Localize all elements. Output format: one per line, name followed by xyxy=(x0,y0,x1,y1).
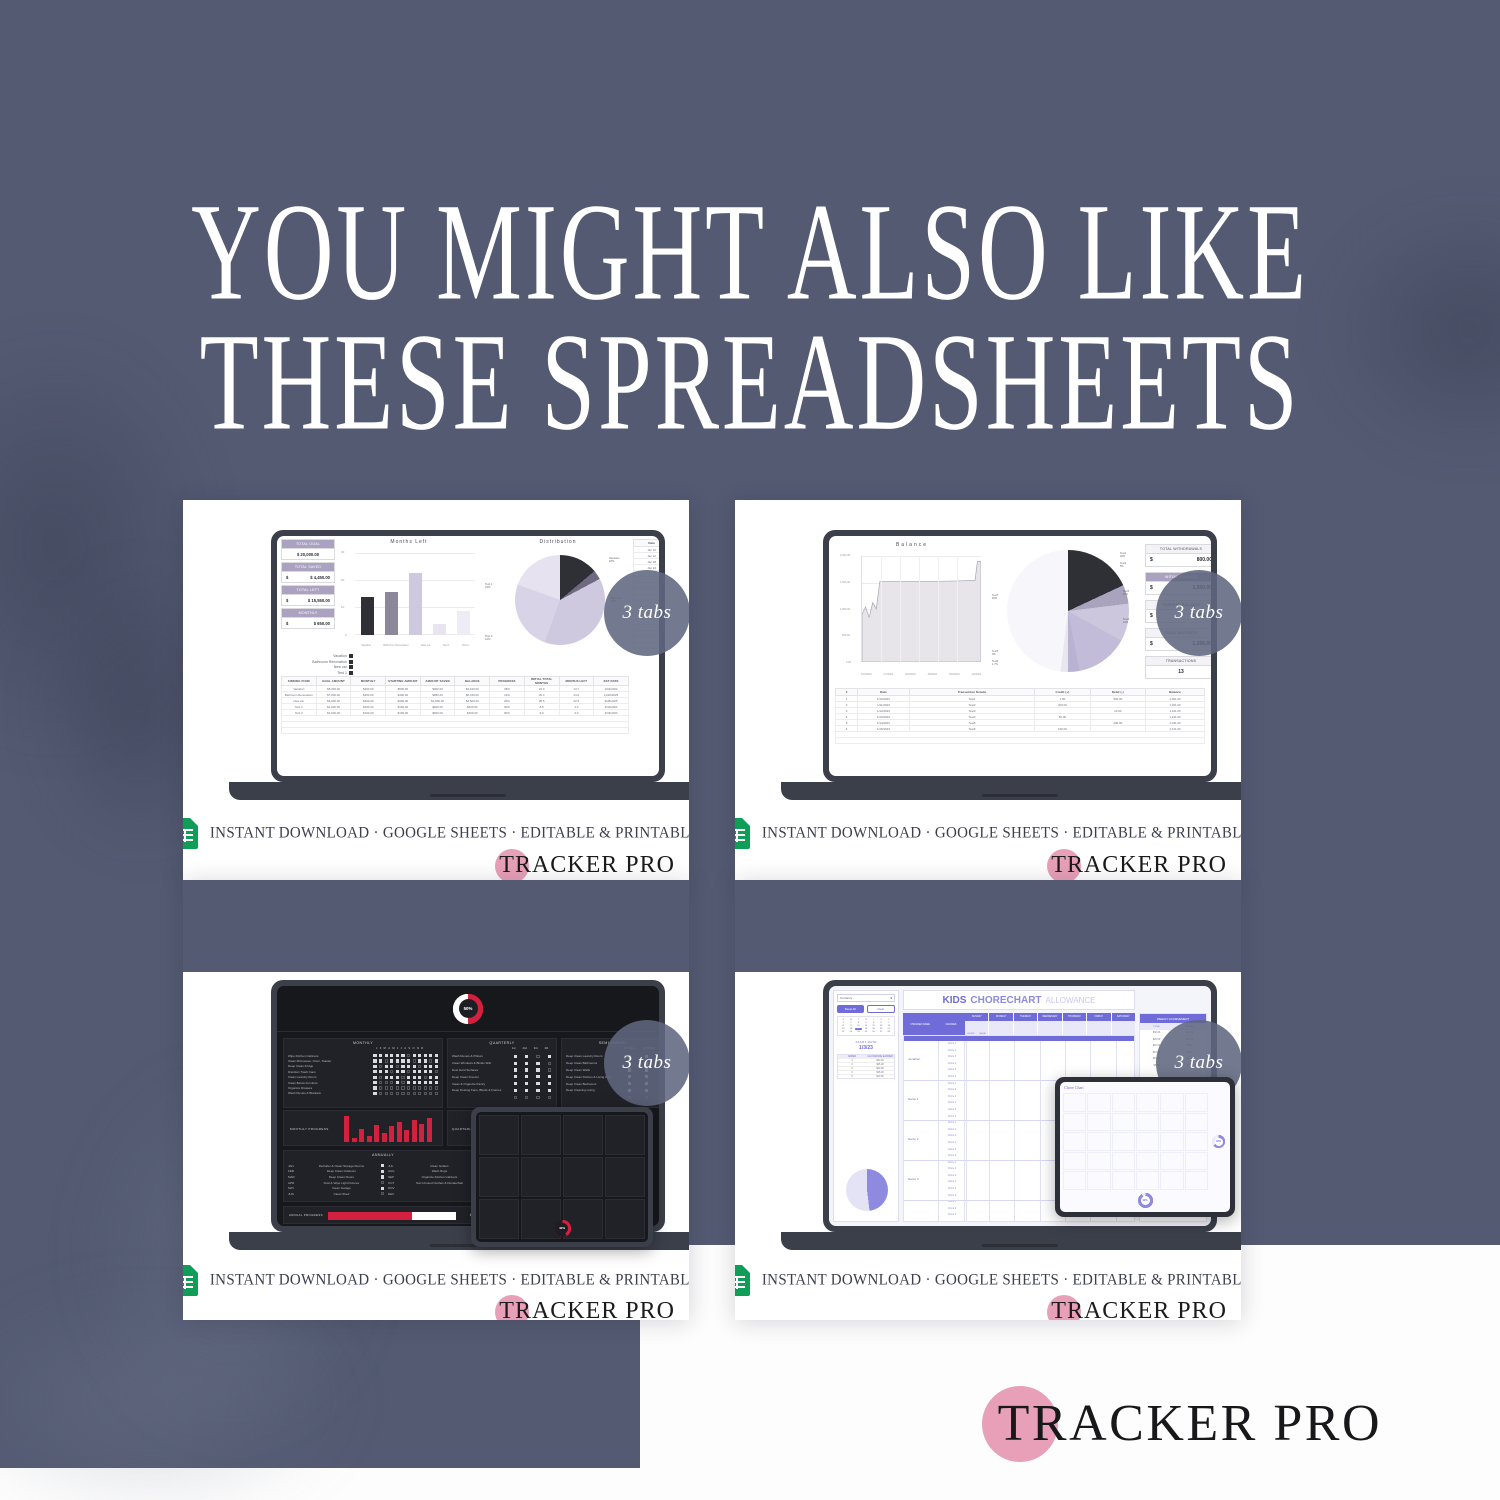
weekday-header-row: CHILDREN NAME CHORES SUNDAYCHOREVALUE MO… xyxy=(903,1013,1135,1035)
tablet-screen-4: Chore Chart 72% 55% 83% 44% 64% xyxy=(1060,1082,1230,1212)
card-head-4 xyxy=(735,880,1241,972)
gauge-row: 67% 80% 83% 33% 100% 60% 50% xyxy=(277,986,659,1032)
table-header-row: Date Transaction Details Amount xyxy=(634,540,660,547)
table-row xyxy=(282,728,629,734)
footer-text: INSTANT DOWNLOAD · GOOGLE SHEETS · EDITA… xyxy=(762,824,1241,842)
gauge-progress: 50% xyxy=(453,994,483,1024)
brand-name: TRACKER PRO xyxy=(998,1394,1382,1453)
laptop-screen-1: TOTAL GOAL $ 20,000.00 TOTAL SAVED $$ 4,… xyxy=(277,536,659,776)
quarterly-panel: QUARTERLY 1st2nd3rd4th Wash Duvets & Pil… xyxy=(447,1038,557,1108)
bar xyxy=(361,597,374,635)
laptop-mockup-2: Balance 2,000.00 1,500.00 1,000.00 500.0… xyxy=(823,530,1217,798)
card-watermark-2: TRACKER PRO xyxy=(1051,852,1227,879)
headline-line-2: THESE SPREADSHEETS xyxy=(53,316,1448,450)
product-card-checkbook-register[interactable]: CHECKBOOK REGISTER STREAMLINE YOUR WORKF… xyxy=(735,500,1241,880)
tablet-mockup-3: 70% 55% 83% 42% xyxy=(471,1107,653,1247)
google-sheets-icon xyxy=(183,818,198,849)
footer-text: INSTANT DOWNLOAD · GOOGLE SHEETS · EDITA… xyxy=(210,824,689,842)
card-footer-4: INSTANT DOWNLOAD · GOOGLE SHEETS · EDITA… xyxy=(735,1265,1241,1296)
gauge-small: 92% xyxy=(1138,1193,1153,1208)
google-sheets-icon xyxy=(735,818,750,849)
bar xyxy=(457,611,470,635)
gauge-small: 42% xyxy=(554,1220,571,1237)
transactions-table: # Date Transaction Details Credit (+) De… xyxy=(835,688,1205,744)
bar-chart-months-left: Months Left 30 20 10 0 xyxy=(339,539,479,651)
area-series xyxy=(862,556,981,662)
gauge-small: 64% xyxy=(1212,1135,1225,1148)
card-footer-1: INSTANT DOWNLOAD · GOOGLE SHEETS · EDITA… xyxy=(183,818,689,849)
pie-chart-allowance xyxy=(846,1169,888,1211)
stat-box: TOTAL GOAL $ 20,000.00 xyxy=(281,539,335,560)
card-watermark-3: TRACKER PRO xyxy=(499,1298,675,1320)
bar xyxy=(409,573,422,635)
table: SINKING FUND GOAL AMOUNT MONTHLY STARTIN… xyxy=(281,676,629,734)
watermark-text: TRACKER PRO xyxy=(499,852,675,879)
table: # Date Transaction Details Credit (+) De… xyxy=(835,688,1205,744)
card-head-3 xyxy=(183,880,689,972)
product-card-kids-allowance[interactable]: KIDS ALLOWANCE BUNDLE STREAMLINE YOUR WO… xyxy=(735,880,1241,1320)
monthly-progress-chart: MONTHLY PROGRESS xyxy=(283,1110,443,1146)
google-sheets-icon xyxy=(735,1265,750,1296)
laptop-screen-2: Balance 2,000.00 1,500.00 1,000.00 500.0… xyxy=(829,536,1211,776)
chorechart-banner: KIDS CHORECHART ALLOWANCE xyxy=(903,990,1135,1010)
table-header-row: SINKING FUND GOAL AMOUNT MONTHLY STARTIN… xyxy=(282,677,629,686)
table-header-row: # Date Transaction Details Credit (+) De… xyxy=(836,689,1205,696)
card-footer-3: INSTANT DOWNLOAD · GOOGLE SHEETS · EDITA… xyxy=(183,1265,689,1296)
laptop-mockup-1: TOTAL GOAL $ 20,000.00 TOTAL SAVED $$ 4,… xyxy=(271,530,665,798)
clear-button[interactable]: Clear xyxy=(867,1005,896,1013)
tabs-badge-1: 3 tabs xyxy=(604,570,689,656)
watermark-text: TRACKER PRO xyxy=(499,1298,675,1320)
tabs-badge-2: 3 tabs xyxy=(1156,570,1241,656)
tablet-screen-3: 70% 55% 83% 42% xyxy=(476,1112,648,1242)
watermark-text: TRACKER PRO xyxy=(1051,1298,1227,1320)
annual-progress-bar: ANNUAL PROGRESS 66% xyxy=(283,1206,483,1224)
card-watermark-4: TRACKER PRO xyxy=(1051,1298,1227,1320)
footer-text: INSTANT DOWNLOAD · GOOGLE SHEETS · EDITA… xyxy=(762,1271,1241,1289)
reset-all-button[interactable]: Reset All xyxy=(837,1005,864,1013)
laptop-base-2 xyxy=(781,782,1241,800)
card-watermark-1: TRACKER PRO xyxy=(499,852,675,879)
pie-graphic xyxy=(515,555,605,645)
tabs-badge-3: 3 tabs xyxy=(604,1020,689,1106)
footer-text: INSTANT DOWNLOAD · GOOGLE SHEETS · EDITA… xyxy=(210,1271,689,1289)
mini-calendar[interactable]: SMTWTFS 1234567 891011121314 15161718192… xyxy=(837,1016,895,1036)
monthly-panel: MONTHLY JFMAMJJASOND Wipe Kitchen Cabine… xyxy=(283,1038,443,1108)
stat-box: MONTHLY $$ 650.00 xyxy=(281,608,335,629)
laptop-base-1 xyxy=(229,782,689,800)
bar xyxy=(433,624,446,635)
stat-box: TOTAL LEFT $$ 15,550.00 xyxy=(281,585,335,606)
google-sheets-icon xyxy=(183,1265,198,1296)
bar xyxy=(385,592,398,635)
stat-box-transactions: TRANSACTIONS 13 xyxy=(1145,656,1211,679)
pie-chart-transactions: Test118% Test25% Test311% Test414% Test7… xyxy=(991,542,1139,682)
headline-line-1: YOU MIGHT ALSO LIKE xyxy=(53,186,1448,320)
product-card-cleaning-chore[interactable]: CLEANING & FAMILY CHORE STREAMLINE YOUR … xyxy=(183,880,689,1320)
stat-box-group-1: TOTAL GOAL $ 20,000.00 TOTAL SAVED $$ 4,… xyxy=(281,539,335,629)
stat-box-total-withdrawals: TOTAL WITHDRAWALS $800.00 xyxy=(1145,544,1211,567)
card-footer-2: INSTANT DOWNLOAD · GOOGLE SHEETS · EDITA… xyxy=(735,818,1241,849)
annually-panel: ANNUALLY JANDeclutter & Clean Storage Ro… xyxy=(283,1150,483,1202)
product-card-sinking-funds[interactable]: SINKING FUNDS STREAMLINE YOUR WORKFLOW, … xyxy=(183,500,689,880)
laptop-base-4 xyxy=(781,1232,1241,1250)
sinking-funds-table: SINKING FUND GOAL AMOUNT MONTHLY STARTIN… xyxy=(281,676,629,734)
tablet-mockup-4: Chore Chart 72% 55% 83% 44% 64% xyxy=(1055,1077,1235,1217)
control-panel: Currency $ Reset All Clear SMTWTFS 12345… xyxy=(833,990,899,1222)
table-row xyxy=(836,738,1205,744)
brand-logo: TRACKER PRO xyxy=(998,1394,1382,1453)
watermark-text: TRACKER PRO xyxy=(1051,852,1227,879)
stat-box: TOTAL SAVED $$ 4,450.00 xyxy=(281,562,335,583)
area-chart-balance: Balance 2,000.00 1,500.00 1,000.00 500.0… xyxy=(837,542,987,680)
pie-graphic xyxy=(1007,550,1129,672)
page-title: YOU MIGHT ALSO LIKE THESE SPREADSHEETS xyxy=(0,186,1500,416)
